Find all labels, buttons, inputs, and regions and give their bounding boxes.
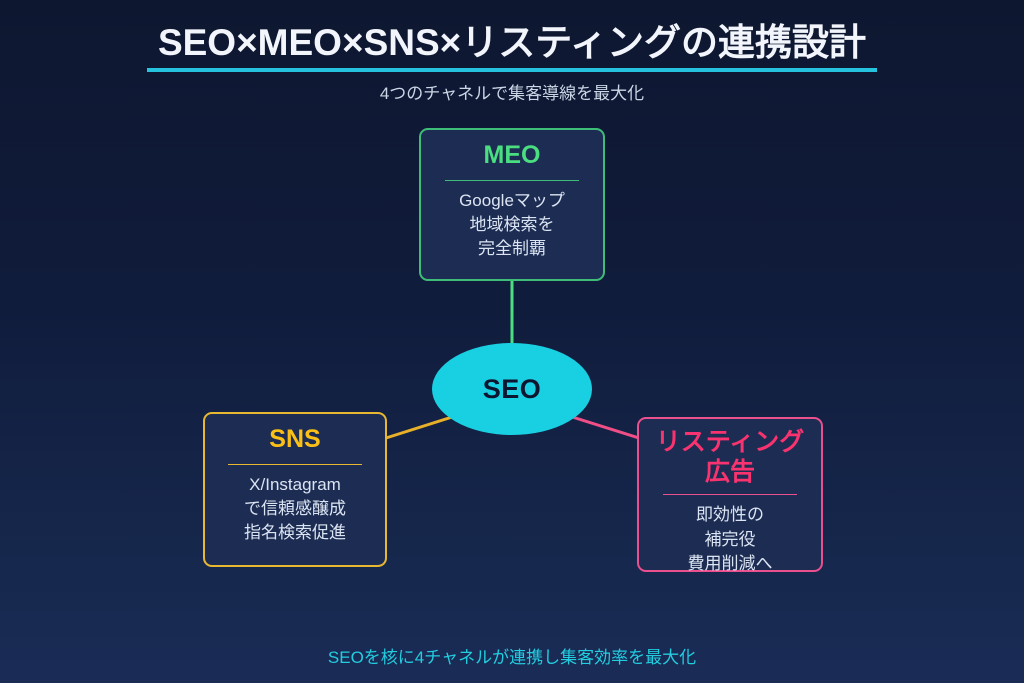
card-body-line: 指名検索促進 — [205, 521, 385, 545]
card-divider-sns — [228, 464, 361, 465]
card-body-meo: Googleマップ 地域検索を 完全制覇 — [421, 189, 603, 261]
card-divider-meo — [445, 180, 580, 181]
card-body-line: 即効性の — [639, 503, 821, 528]
card-title-line: リスティング — [656, 428, 805, 456]
card-body-line: 完全制覇 — [421, 237, 603, 261]
channel-card-meo[interactable]: MEO Googleマップ 地域検索を 完全制覇 — [419, 128, 605, 281]
card-body-line: Googleマップ — [421, 189, 603, 213]
card-title-listing-ads: リスティング 広告 — [639, 428, 821, 487]
card-body-sns: X/Instagram で信頼感醸成 指名検索促進 — [205, 473, 385, 545]
hub-node-seo[interactable]: SEO — [432, 343, 592, 435]
card-body-line: X/Instagram — [205, 473, 385, 497]
card-title-line: 広告 — [705, 458, 755, 486]
card-title-meo: MEO — [421, 141, 603, 171]
card-title-sns: SNS — [205, 425, 385, 455]
card-body-line: 地域検索を — [421, 213, 603, 237]
hub-label: SEO — [483, 374, 542, 405]
card-body-line: 補完役 — [639, 528, 821, 553]
card-body-listing-ads: 即効性の 補完役 費用削減へ — [639, 503, 821, 577]
slide-canvas: SEO×MEO×SNS×リスティングの連携設計 4つのチャネルで集客導線を最大化… — [0, 0, 1024, 683]
footer-note: SEOを核に4チャネルが連携し集客効率を最大化 — [0, 643, 1024, 668]
channel-card-sns[interactable]: SNS X/Instagram で信頼感醸成 指名検索促進 — [203, 412, 387, 567]
card-body-line: で信頼感醸成 — [205, 497, 385, 521]
channel-card-listing-ads[interactable]: リスティング 広告 即効性の 補完役 費用削減へ — [637, 417, 823, 572]
connector-lines — [0, 0, 1024, 683]
card-divider-listing-ads — [663, 494, 798, 495]
card-body-line: 費用削減へ — [639, 552, 821, 577]
